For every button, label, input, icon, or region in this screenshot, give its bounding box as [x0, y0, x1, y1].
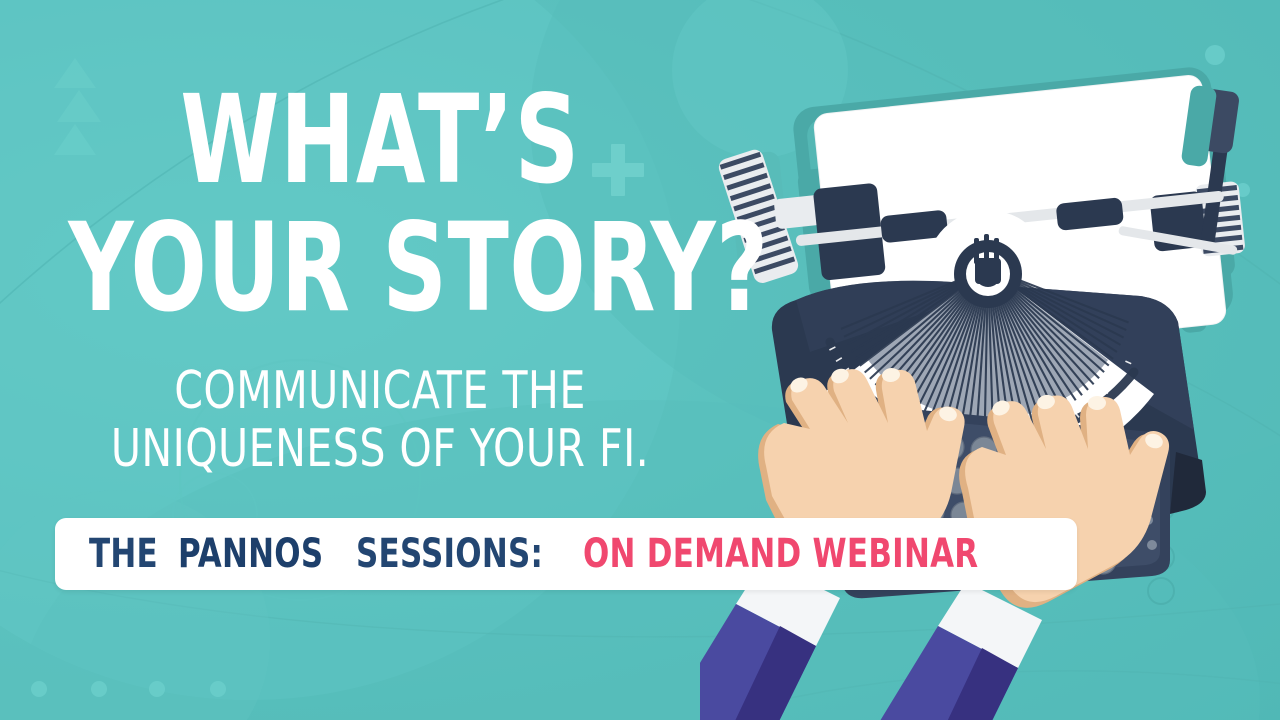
plus-icon: [592, 144, 644, 196]
badge-the-label: THE: [89, 531, 158, 577]
badge-webinar-label: ON DEMAND WEBINAR: [583, 531, 978, 577]
webinar-badge[interactable]: THE PANNOS SESSIONS: ON DEMAND WEBINAR: [55, 518, 1077, 590]
typewriter-illustration: [700, 0, 1280, 720]
badge-brand-label: PANNOS: [178, 531, 323, 577]
promo-graphic: WHAT’S YOUR STORY? COMMUNICATE THE UNIQU…: [0, 0, 1280, 720]
badge-sessions-label: SESSIONS:: [356, 531, 543, 577]
